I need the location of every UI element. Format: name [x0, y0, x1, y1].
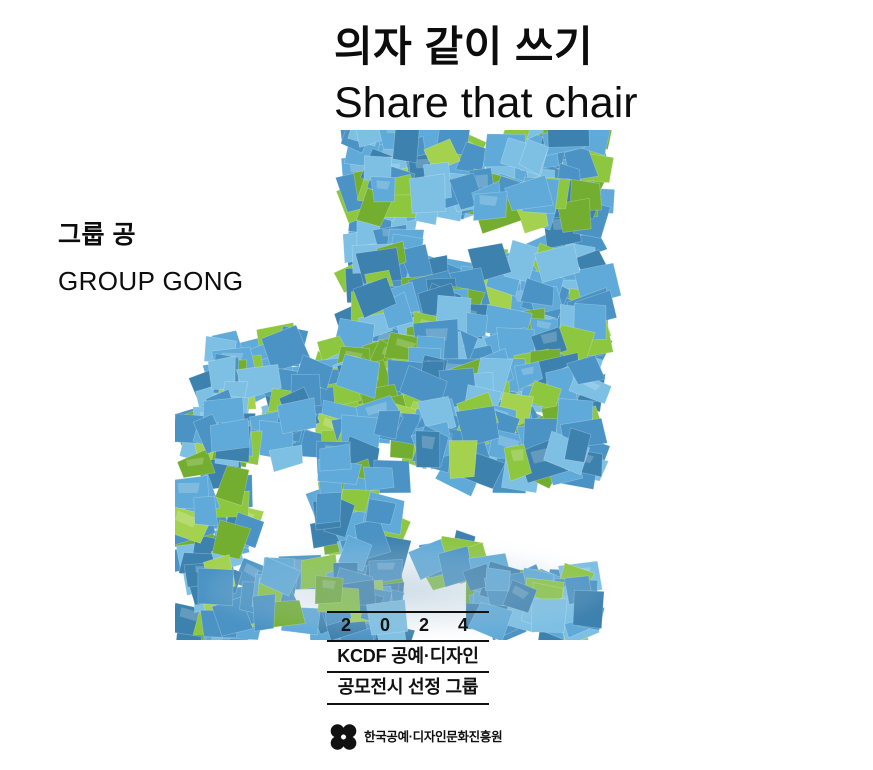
- badge-line-1: KCDF 공예·디자인: [327, 642, 489, 672]
- badge-line-2: 공모전시 선정 그룹: [327, 673, 489, 703]
- poster-canvas: 의자 같이 쓰기 Share that chair 그룹 공 GROUP GON…: [0, 0, 873, 770]
- group-name-english: GROUP GONG: [58, 267, 244, 296]
- organization-footer: 한국공예·디자인문화진흥원: [330, 724, 502, 750]
- badge-rule-bottom: [327, 703, 489, 705]
- page-title-korean: 의자 같이 쓰기: [334, 24, 854, 69]
- page-title-english: Share that chair: [334, 79, 854, 127]
- group-name-korean: 그룹 공: [58, 222, 244, 250]
- chair-artwork: [175, 130, 645, 640]
- badge-year: 2 0 2 4: [327, 613, 489, 640]
- clover-logo-icon: [330, 724, 357, 750]
- group-credit-block: 그룹 공 GROUP GONG: [58, 222, 244, 295]
- headline-block: 의자 같이 쓰기 Share that chair: [334, 24, 854, 128]
- organization-name: 한국공예·디자인문화진흥원: [364, 731, 502, 744]
- award-badge: 2 0 2 4 KCDF 공예·디자인 공모전시 선정 그룹: [327, 611, 489, 705]
